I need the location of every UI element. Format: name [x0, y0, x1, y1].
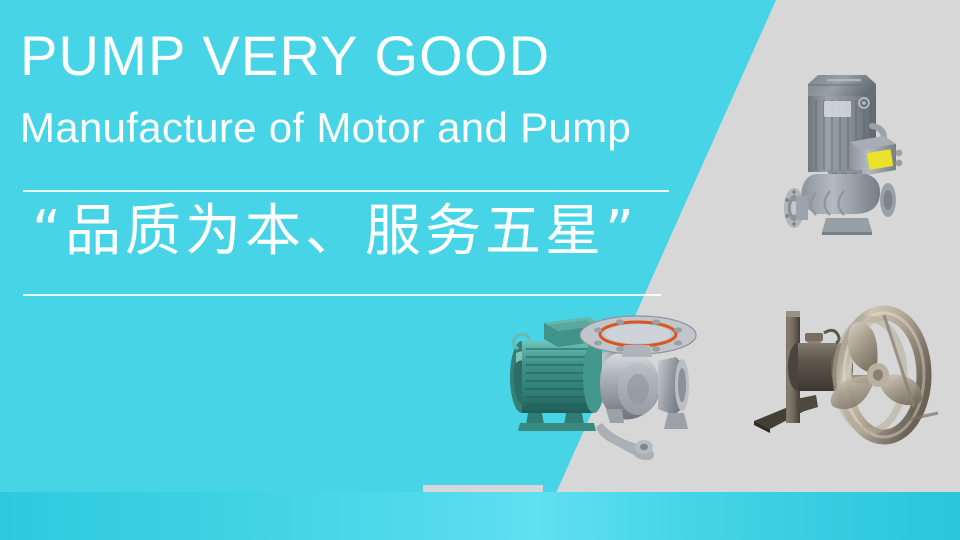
- chinese-slogan: “品质为本、服务五星”: [32, 203, 638, 262]
- brand-headline: PUMP VERY GOOD: [20, 28, 550, 84]
- divider-rule-bottom: [23, 294, 661, 296]
- sub-headline: Manufacture of Motor and Pump: [20, 107, 631, 149]
- bottom-cyan-band: [0, 492, 960, 540]
- promo-banner: PUMP VERY GOOD Manufacture of Motor and …: [0, 0, 960, 540]
- product-image-submersible-mixer: [752, 295, 948, 465]
- product-image-horizontal-centrifugal-pump: [498, 305, 730, 465]
- divider-rule-top: [23, 190, 669, 192]
- product-image-vertical-inline-pump: [772, 60, 930, 240]
